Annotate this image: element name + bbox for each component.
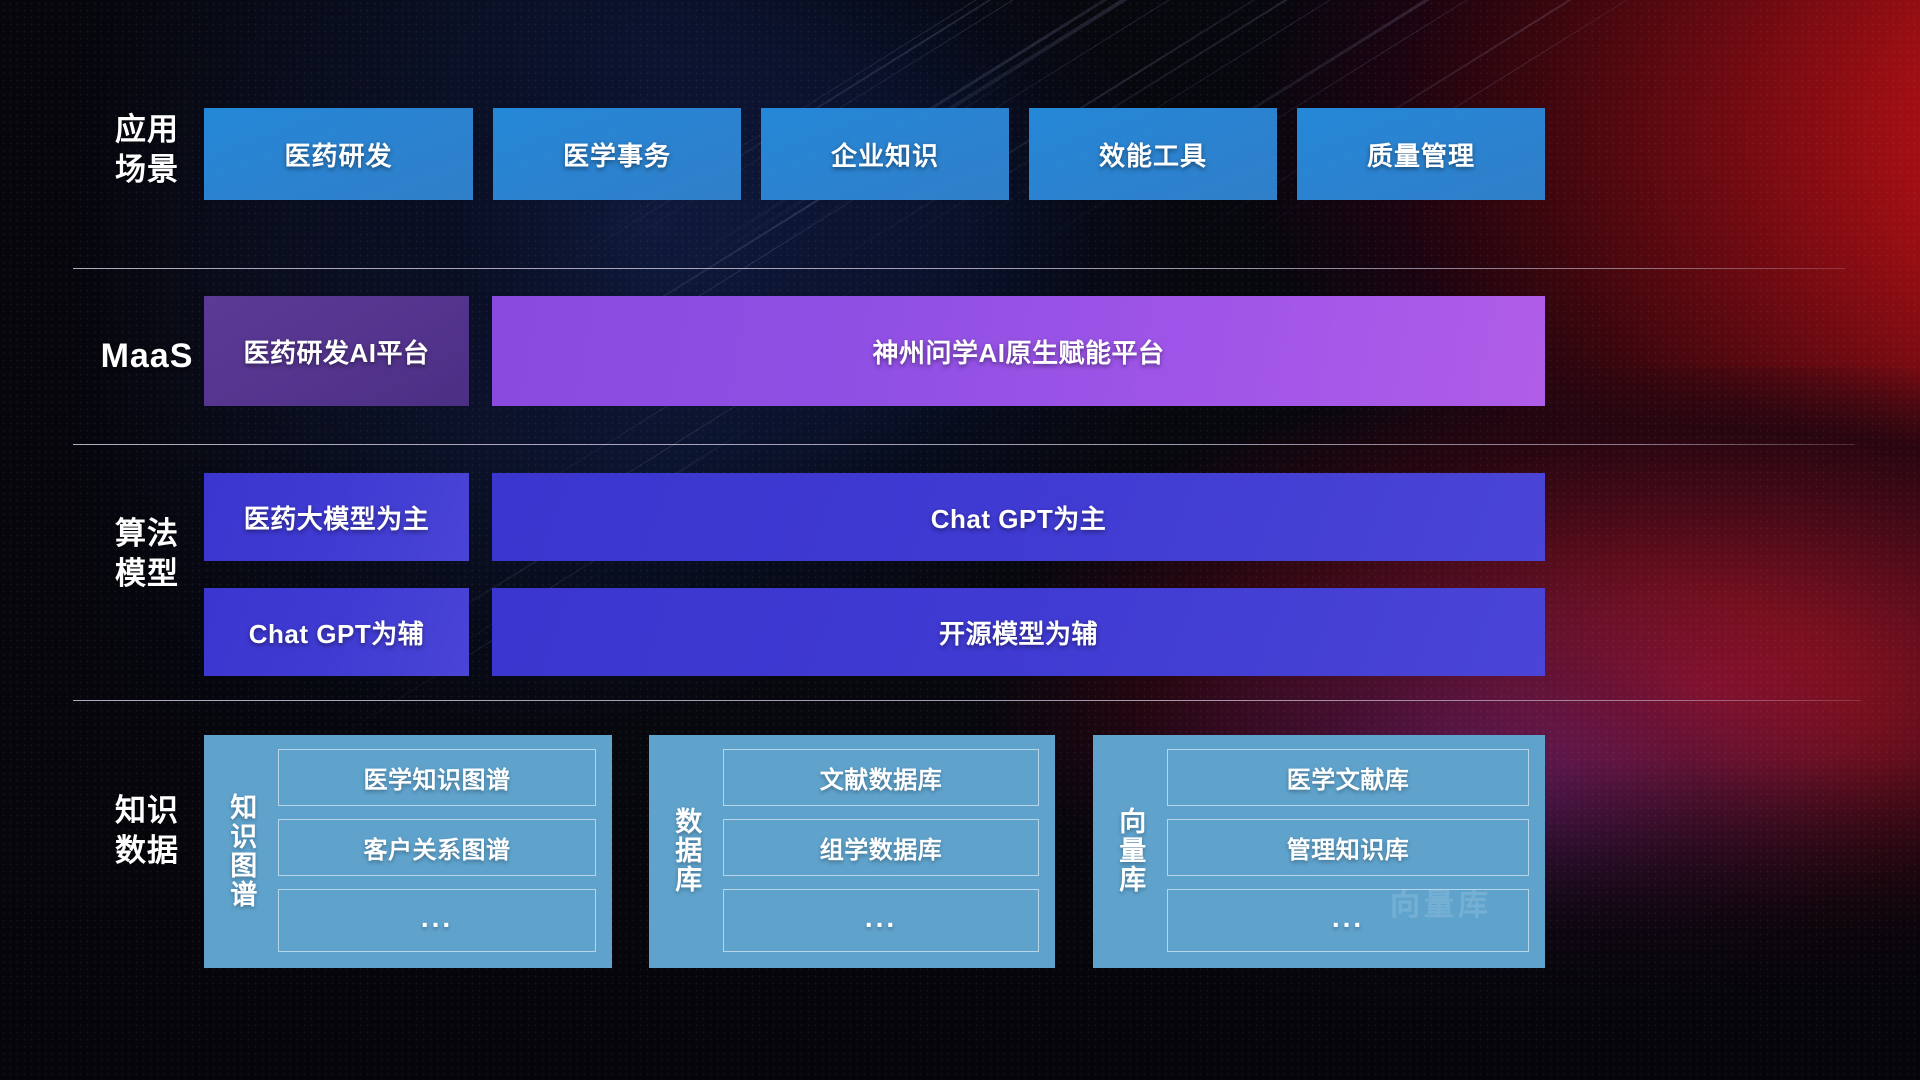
knowledge-item-customer-graph[interactable]: 客户关系图谱 xyxy=(278,819,596,876)
knowledge-item-management-knowledge-store[interactable]: 管理知识库 xyxy=(1167,819,1529,876)
algo-box-medicine-llm-primary[interactable]: 医药大模型为主 xyxy=(204,473,469,561)
app-box-enterprise-knowledge[interactable]: 企业知识 xyxy=(761,108,1009,200)
knowledge-item-medical-literature-store[interactable]: 医学文献库 xyxy=(1167,749,1529,806)
tier-label-algorithm-line1: 算法 xyxy=(72,514,222,554)
knowledge-group-graph-items: 医学知识图谱 客户关系图谱 ... xyxy=(278,749,596,952)
knowledge-item-graph-more[interactable]: ... xyxy=(278,889,596,952)
app-box-quality-management[interactable]: 质量管理 xyxy=(1297,108,1545,200)
divider-application-maas xyxy=(73,268,1845,269)
algo-box-chatgpt-secondary[interactable]: Chat GPT为辅 xyxy=(204,588,469,676)
divider-algorithm-knowledge xyxy=(73,700,1861,701)
architecture-diagram: 应用 场景 医药研发 医学事务 企业知识 效能工具 质量管理 MaaS 医药研发… xyxy=(0,0,1920,1080)
algo-box-chatgpt-primary[interactable]: Chat GPT为主 xyxy=(492,473,1545,561)
app-box-medicine-rd[interactable]: 医药研发 xyxy=(204,108,473,200)
tier-label-application-line1: 应用 xyxy=(72,110,222,150)
tier-label-knowledge-line2: 数据 xyxy=(72,831,222,871)
knowledge-group-graph: 知识图谱 医学知识图谱 客户关系图谱 ... xyxy=(204,735,612,968)
app-box-medical-affairs[interactable]: 医学事务 xyxy=(493,108,741,200)
knowledge-item-literature-db[interactable]: 文献数据库 xyxy=(723,749,1039,806)
algo-box-opensource-secondary[interactable]: 开源模型为辅 xyxy=(492,588,1545,676)
tier-label-algorithm: 算法 模型 xyxy=(72,514,222,593)
tier-label-application: 应用 场景 xyxy=(72,110,222,189)
knowledge-group-database-items: 文献数据库 组学数据库 ... xyxy=(723,749,1039,952)
knowledge-group-database-label: 数据库 xyxy=(649,749,723,952)
knowledge-group-vector-label: 向量库 xyxy=(1093,749,1167,952)
app-box-efficiency-tools[interactable]: 效能工具 xyxy=(1029,108,1277,200)
tier-label-application-line2: 场景 xyxy=(72,150,222,190)
tier-label-maas-text: MaaS xyxy=(101,337,194,375)
knowledge-item-medical-graph[interactable]: 医学知识图谱 xyxy=(278,749,596,806)
maas-box-shenzhou-wenxue-platform[interactable]: 神州问学AI原生赋能平台 xyxy=(492,296,1545,406)
knowledge-group-graph-label: 知识图谱 xyxy=(204,749,278,952)
divider-maas-algorithm xyxy=(73,444,1855,445)
maas-box-medicine-ai-platform[interactable]: 医药研发AI平台 xyxy=(204,296,469,406)
tier-label-knowledge-line1: 知识 xyxy=(72,791,222,831)
knowledge-item-omics-db[interactable]: 组学数据库 xyxy=(723,819,1039,876)
knowledge-group-database: 数据库 文献数据库 组学数据库 ... xyxy=(649,735,1055,968)
knowledge-group-vector: 向量库 医学文献库 管理知识库 ... xyxy=(1093,735,1545,968)
tier-label-algorithm-line2: 模型 xyxy=(72,554,222,594)
knowledge-item-database-more[interactable]: ... xyxy=(723,889,1039,952)
knowledge-item-vector-more[interactable]: ... xyxy=(1167,889,1529,952)
tier-label-maas: MaaS xyxy=(72,335,222,379)
tier-label-knowledge: 知识 数据 xyxy=(72,791,222,870)
knowledge-group-vector-items: 医学文献库 管理知识库 ... xyxy=(1167,749,1529,952)
